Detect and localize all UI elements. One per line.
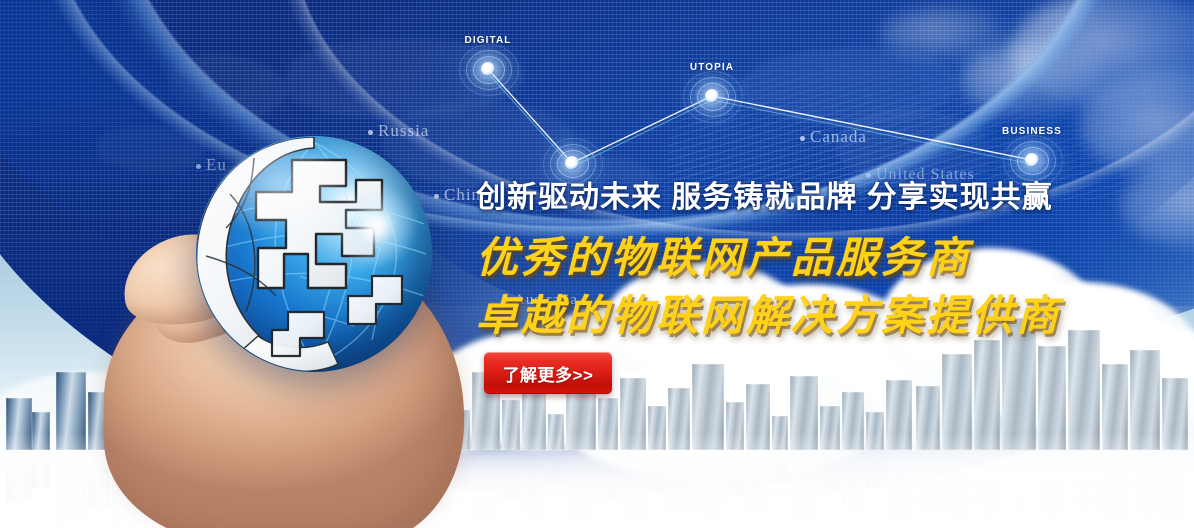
learn-more-button[interactable]: 了解更多>> xyxy=(484,352,612,394)
hero-banner: RussiaEuChinCanadaUnited StatesAustralia… xyxy=(0,0,1194,528)
globe-light-flare xyxy=(333,183,419,269)
subtitle-line-2: 卓越的物联网解决方案提供商 xyxy=(476,282,1061,343)
globe-gloss xyxy=(220,150,352,235)
node-core-glow xyxy=(1025,153,1039,167)
node-core-glow xyxy=(481,62,495,76)
page-title: 创新驱动未来 服务铸就品牌 分享实现共赢 xyxy=(476,172,1053,216)
node-core-glow xyxy=(705,89,719,103)
network-node-label: DIGITAL xyxy=(454,35,522,46)
network-node-label: BUSINESS xyxy=(998,126,1066,137)
node-core-glow xyxy=(565,156,579,170)
subtitle-line-1: 优秀的物联网产品服务商 xyxy=(476,224,971,285)
globe xyxy=(196,136,432,372)
network-node-label: UTOPIA xyxy=(678,62,746,73)
building xyxy=(1068,330,1100,450)
